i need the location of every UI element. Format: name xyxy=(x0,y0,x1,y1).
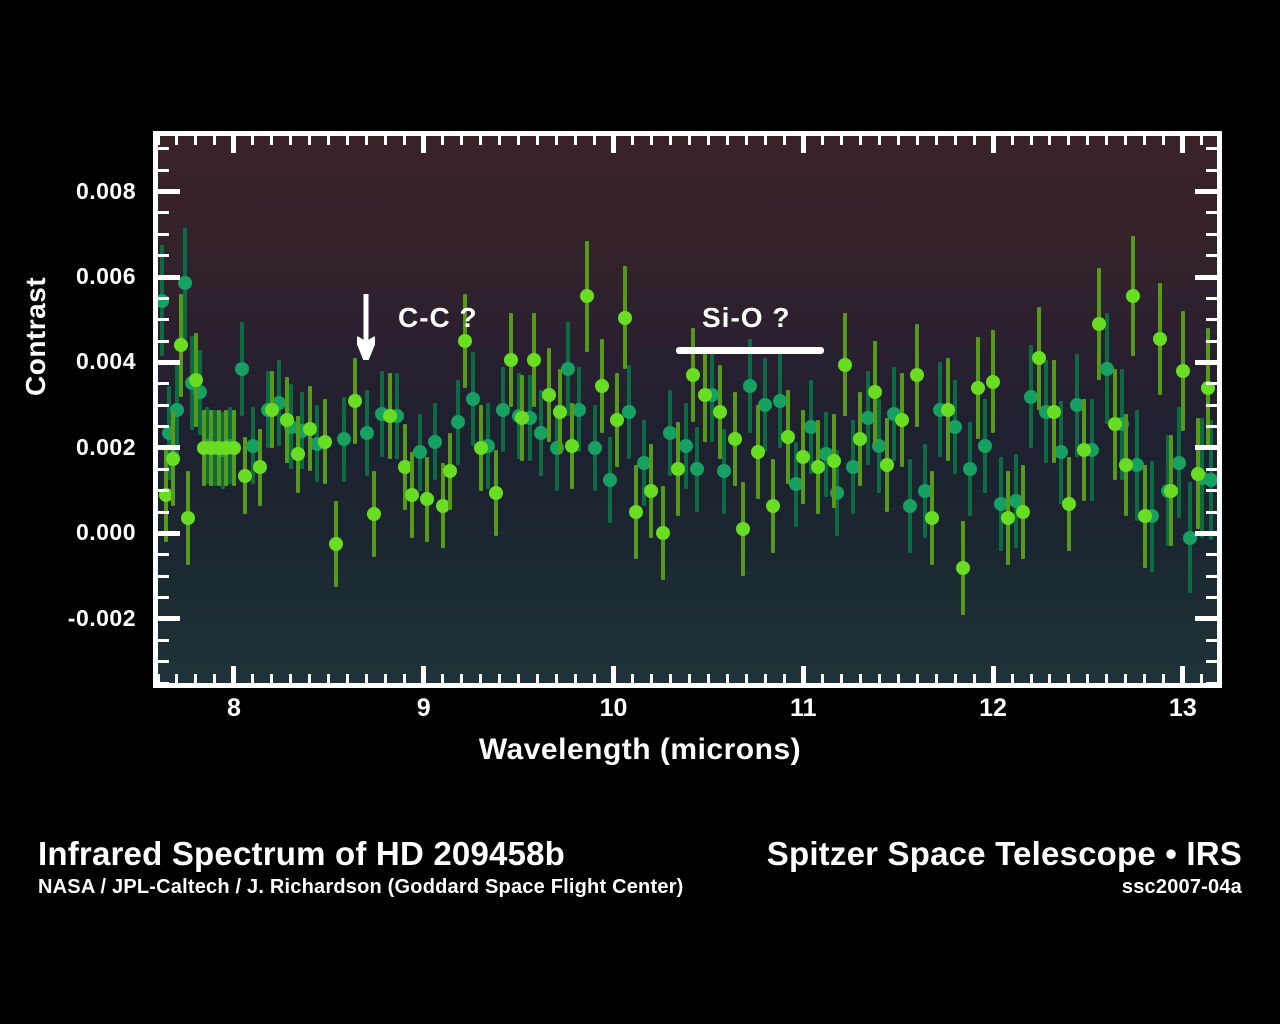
sio-span-bar xyxy=(676,347,824,354)
y-tick-label: -0.002 xyxy=(68,605,136,632)
x-tick-label: 9 xyxy=(394,694,454,723)
x-tick-label: 10 xyxy=(583,694,643,723)
x-tick-label: 12 xyxy=(963,694,1023,723)
y-tick-label: 0.000 xyxy=(76,519,136,546)
y-tick-label: 0.002 xyxy=(76,434,136,461)
x-axis-title: Wavelength (microns) xyxy=(0,733,1280,767)
sio-annotation-label: Si-O ? xyxy=(702,302,790,334)
y-axis-title: Contrast xyxy=(20,277,52,396)
y-tick-label: 0.008 xyxy=(76,178,136,205)
caption-left-title: Infrared Spectrum of HD 209458b xyxy=(38,836,684,872)
y-tick-label: 0.004 xyxy=(76,348,136,375)
plot-canvas: C-C ? Si-O ? 6 July 200513 July 2005 xyxy=(158,136,1217,683)
y-tick-label: 0.006 xyxy=(76,263,136,290)
caption-left: Infrared Spectrum of HD 209458b NASA / J… xyxy=(38,836,684,899)
caption-right: Spitzer Space Telescope • IRS ssc2007-04… xyxy=(767,836,1242,899)
annotation-layer: C-C ? Si-O ? 6 July 200513 July 2005 xyxy=(158,136,1217,683)
x-tick-label: 8 xyxy=(204,694,264,723)
caption-right-subtitle: ssc2007-04a xyxy=(767,876,1242,899)
caption-right-title: Spitzer Space Telescope • IRS xyxy=(767,836,1242,872)
caption-left-subtitle: NASA / JPL-Caltech / J. Richardson (Godd… xyxy=(38,876,684,899)
figure-root: Contrast 0.0080.0060.0040.0020.000-0.002… xyxy=(0,0,1280,1024)
x-tick-label: 13 xyxy=(1153,694,1213,723)
down-arrow-icon xyxy=(357,294,375,360)
x-tick-label: 11 xyxy=(773,694,833,723)
plot-frame: C-C ? Si-O ? 6 July 200513 July 2005 xyxy=(153,131,1222,688)
cc-annotation-label: C-C ? xyxy=(398,302,478,334)
